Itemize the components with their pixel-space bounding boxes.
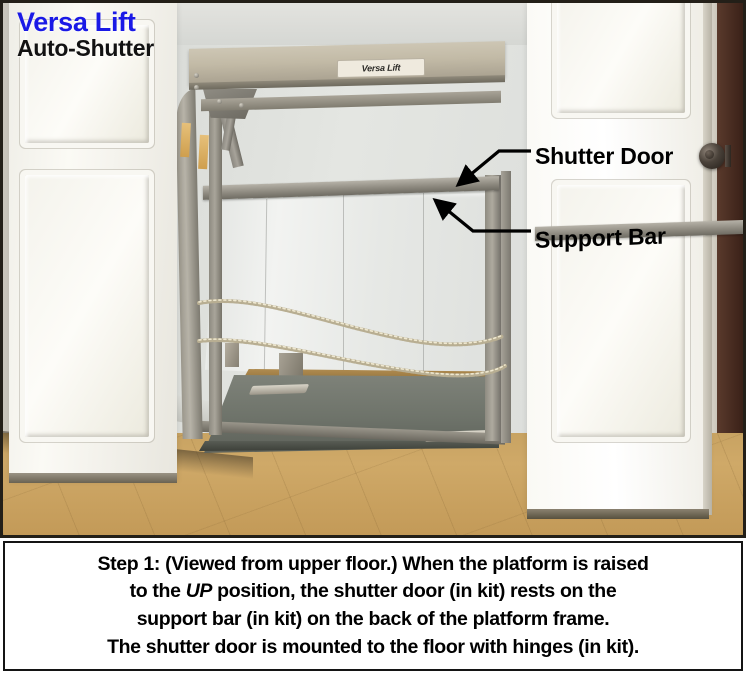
frame-warning-sticker bbox=[198, 135, 209, 169]
caption-line-2: to the UP position, the shutter door (in… bbox=[130, 578, 617, 606]
versa-lift-instruction-figure: Versa Lift bbox=[0, 0, 746, 674]
caption-line-1: Step 1: (Viewed from upper floor.) When … bbox=[97, 551, 648, 579]
door-knob-icon[interactable] bbox=[699, 143, 725, 169]
door-panel-lower bbox=[25, 175, 149, 437]
photo-content: Versa Lift bbox=[3, 3, 743, 535]
lift-frame-post-right bbox=[485, 175, 501, 441]
brand-title: Versa Lift bbox=[17, 9, 154, 37]
frame-bolt bbox=[194, 85, 199, 90]
lift-frame-post-left-inner bbox=[209, 95, 222, 435]
door-left-bottom-edge bbox=[9, 473, 177, 483]
callout-label-shutter-door: Shutter Door bbox=[535, 143, 673, 170]
wood-block bbox=[279, 353, 303, 377]
door-right-edge bbox=[703, 3, 712, 515]
caption-line-3: support bar (in kit) on the back of the … bbox=[137, 606, 610, 634]
caption-line-2-post: position, the shutter door (in kit) rest… bbox=[212, 580, 616, 602]
caption-box: Step 1: (Viewed from upper floor.) When … bbox=[3, 541, 743, 671]
shutter-panel-seam bbox=[423, 193, 424, 379]
versa-lift-decal: Versa Lift bbox=[337, 58, 425, 78]
shutter-panel-seam bbox=[343, 195, 344, 379]
frame-bolt bbox=[239, 103, 244, 108]
shutter-door-panel bbox=[205, 193, 491, 381]
caption-line-2-pre: to the bbox=[130, 580, 186, 602]
frame-warning-sticker bbox=[180, 123, 191, 157]
caption-emphasis-up: UP bbox=[186, 580, 212, 602]
caption-line-4: The shutter door is mounted to the floor… bbox=[107, 634, 639, 662]
hallway-door-left[interactable] bbox=[9, 3, 177, 481]
installation-photo: Versa Lift bbox=[0, 0, 746, 538]
frame-bolt bbox=[194, 73, 199, 78]
title-block: Versa Lift Auto-Shutter bbox=[17, 9, 154, 60]
hallway-door-right[interactable] bbox=[527, 3, 709, 515]
door-strike-plate bbox=[725, 145, 731, 167]
wood-block bbox=[225, 343, 239, 367]
product-title: Auto-Shutter bbox=[17, 37, 154, 60]
frame-bolt bbox=[217, 99, 222, 104]
lift-frame-post-right-outer bbox=[501, 171, 511, 443]
door-panel-upper bbox=[557, 3, 685, 113]
door-right-bottom-edge bbox=[527, 509, 709, 519]
attic-ceiling bbox=[153, 3, 553, 45]
